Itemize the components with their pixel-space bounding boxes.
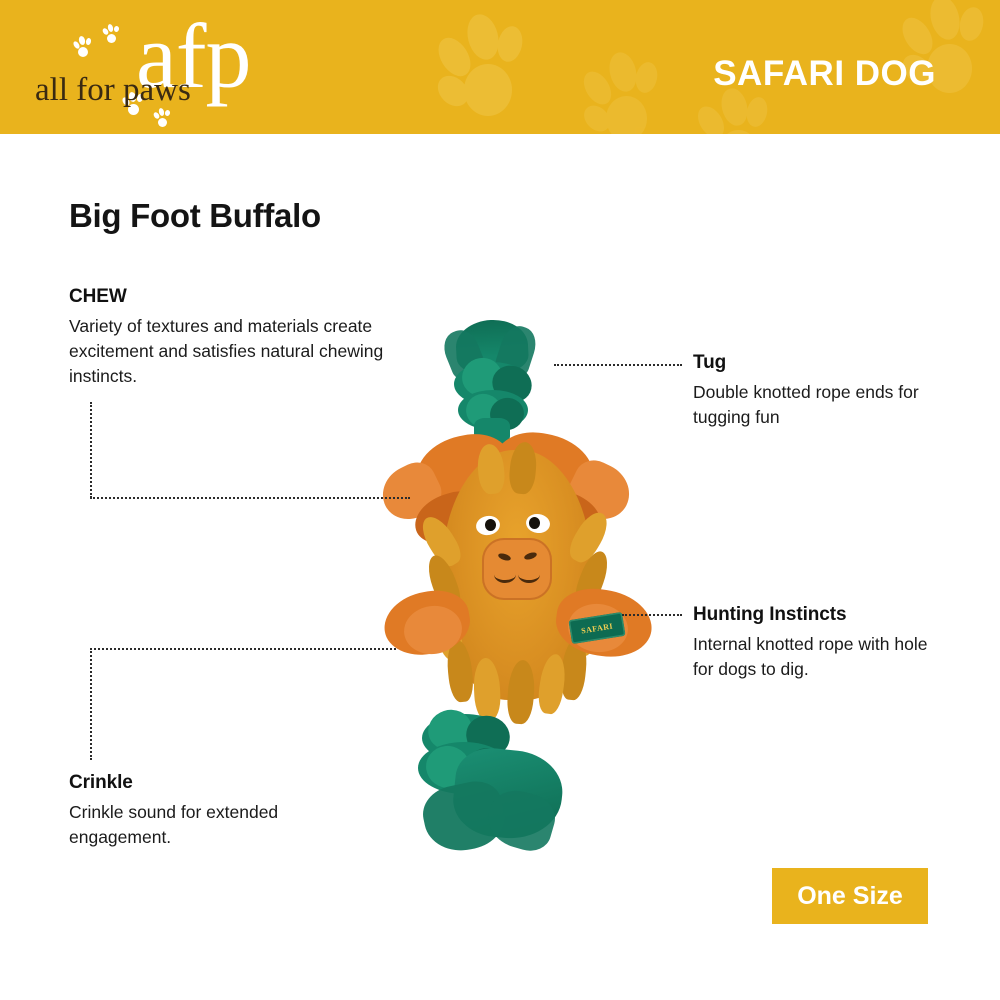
paw-print-icon <box>700 88 795 134</box>
page-title: SAFARI DOG <box>713 54 936 94</box>
paw-print-icon <box>74 36 96 58</box>
product-title: Big Foot Buffalo <box>69 197 321 235</box>
feature-chew-body: Variety of textures and materials create… <box>69 314 389 389</box>
connector-crinkle-horizontal <box>90 648 396 650</box>
feature-tug: Tug Double knotted rope ends for tugging… <box>693 352 953 430</box>
size-badge-label: One Size <box>797 882 903 911</box>
size-badge: One Size <box>772 868 928 924</box>
feature-crinkle: Crinkle Crinkle sound for extended engag… <box>69 772 329 850</box>
connector-chew-vertical <box>90 402 92 498</box>
paw-print-icon <box>440 14 560 124</box>
page-header: afp all for paws SAFARI DOG <box>0 0 1000 134</box>
mouth <box>494 566 516 583</box>
feature-tug-heading: Tug <box>693 352 953 374</box>
connector-tug <box>554 364 682 366</box>
connector-crinkle-vertical <box>90 648 92 760</box>
brand-logo-tagline: all for paws <box>35 74 191 107</box>
brand-logo: afp all for paws <box>30 14 300 124</box>
feature-hunting-instincts-body: Internal knotted rope with hole for dogs… <box>693 632 943 682</box>
eye-right-pupil <box>529 517 540 529</box>
muzzle <box>482 538 552 600</box>
feature-tug-body: Double knotted rope ends for tugging fun <box>693 380 953 430</box>
feature-crinkle-body: Crinkle sound for extended engagement. <box>69 800 329 850</box>
paw-print-icon <box>154 108 174 128</box>
feature-chew: CHEW Variety of textures and materials c… <box>69 286 389 389</box>
feature-hunting-instincts-heading: Hunting Instincts <box>693 604 943 626</box>
eye-left-pupil <box>485 519 496 531</box>
product-tag-label: SAFARI <box>580 621 613 635</box>
product-infographic: afp all for paws SAFARI DOG Big Foot Buf… <box>0 0 1000 1000</box>
feature-chew-heading: CHEW <box>69 286 389 308</box>
connector-chew-horizontal <box>90 497 410 499</box>
product-image: SAFARI <box>370 318 670 863</box>
paw-print-icon <box>103 24 123 44</box>
mouth-2 <box>518 566 540 583</box>
feature-crinkle-heading: Crinkle <box>69 772 329 794</box>
connector-hunting-instincts <box>622 614 682 616</box>
paw-print-icon <box>586 52 686 134</box>
feature-hunting-instincts: Hunting Instincts Internal knotted rope … <box>693 604 943 682</box>
